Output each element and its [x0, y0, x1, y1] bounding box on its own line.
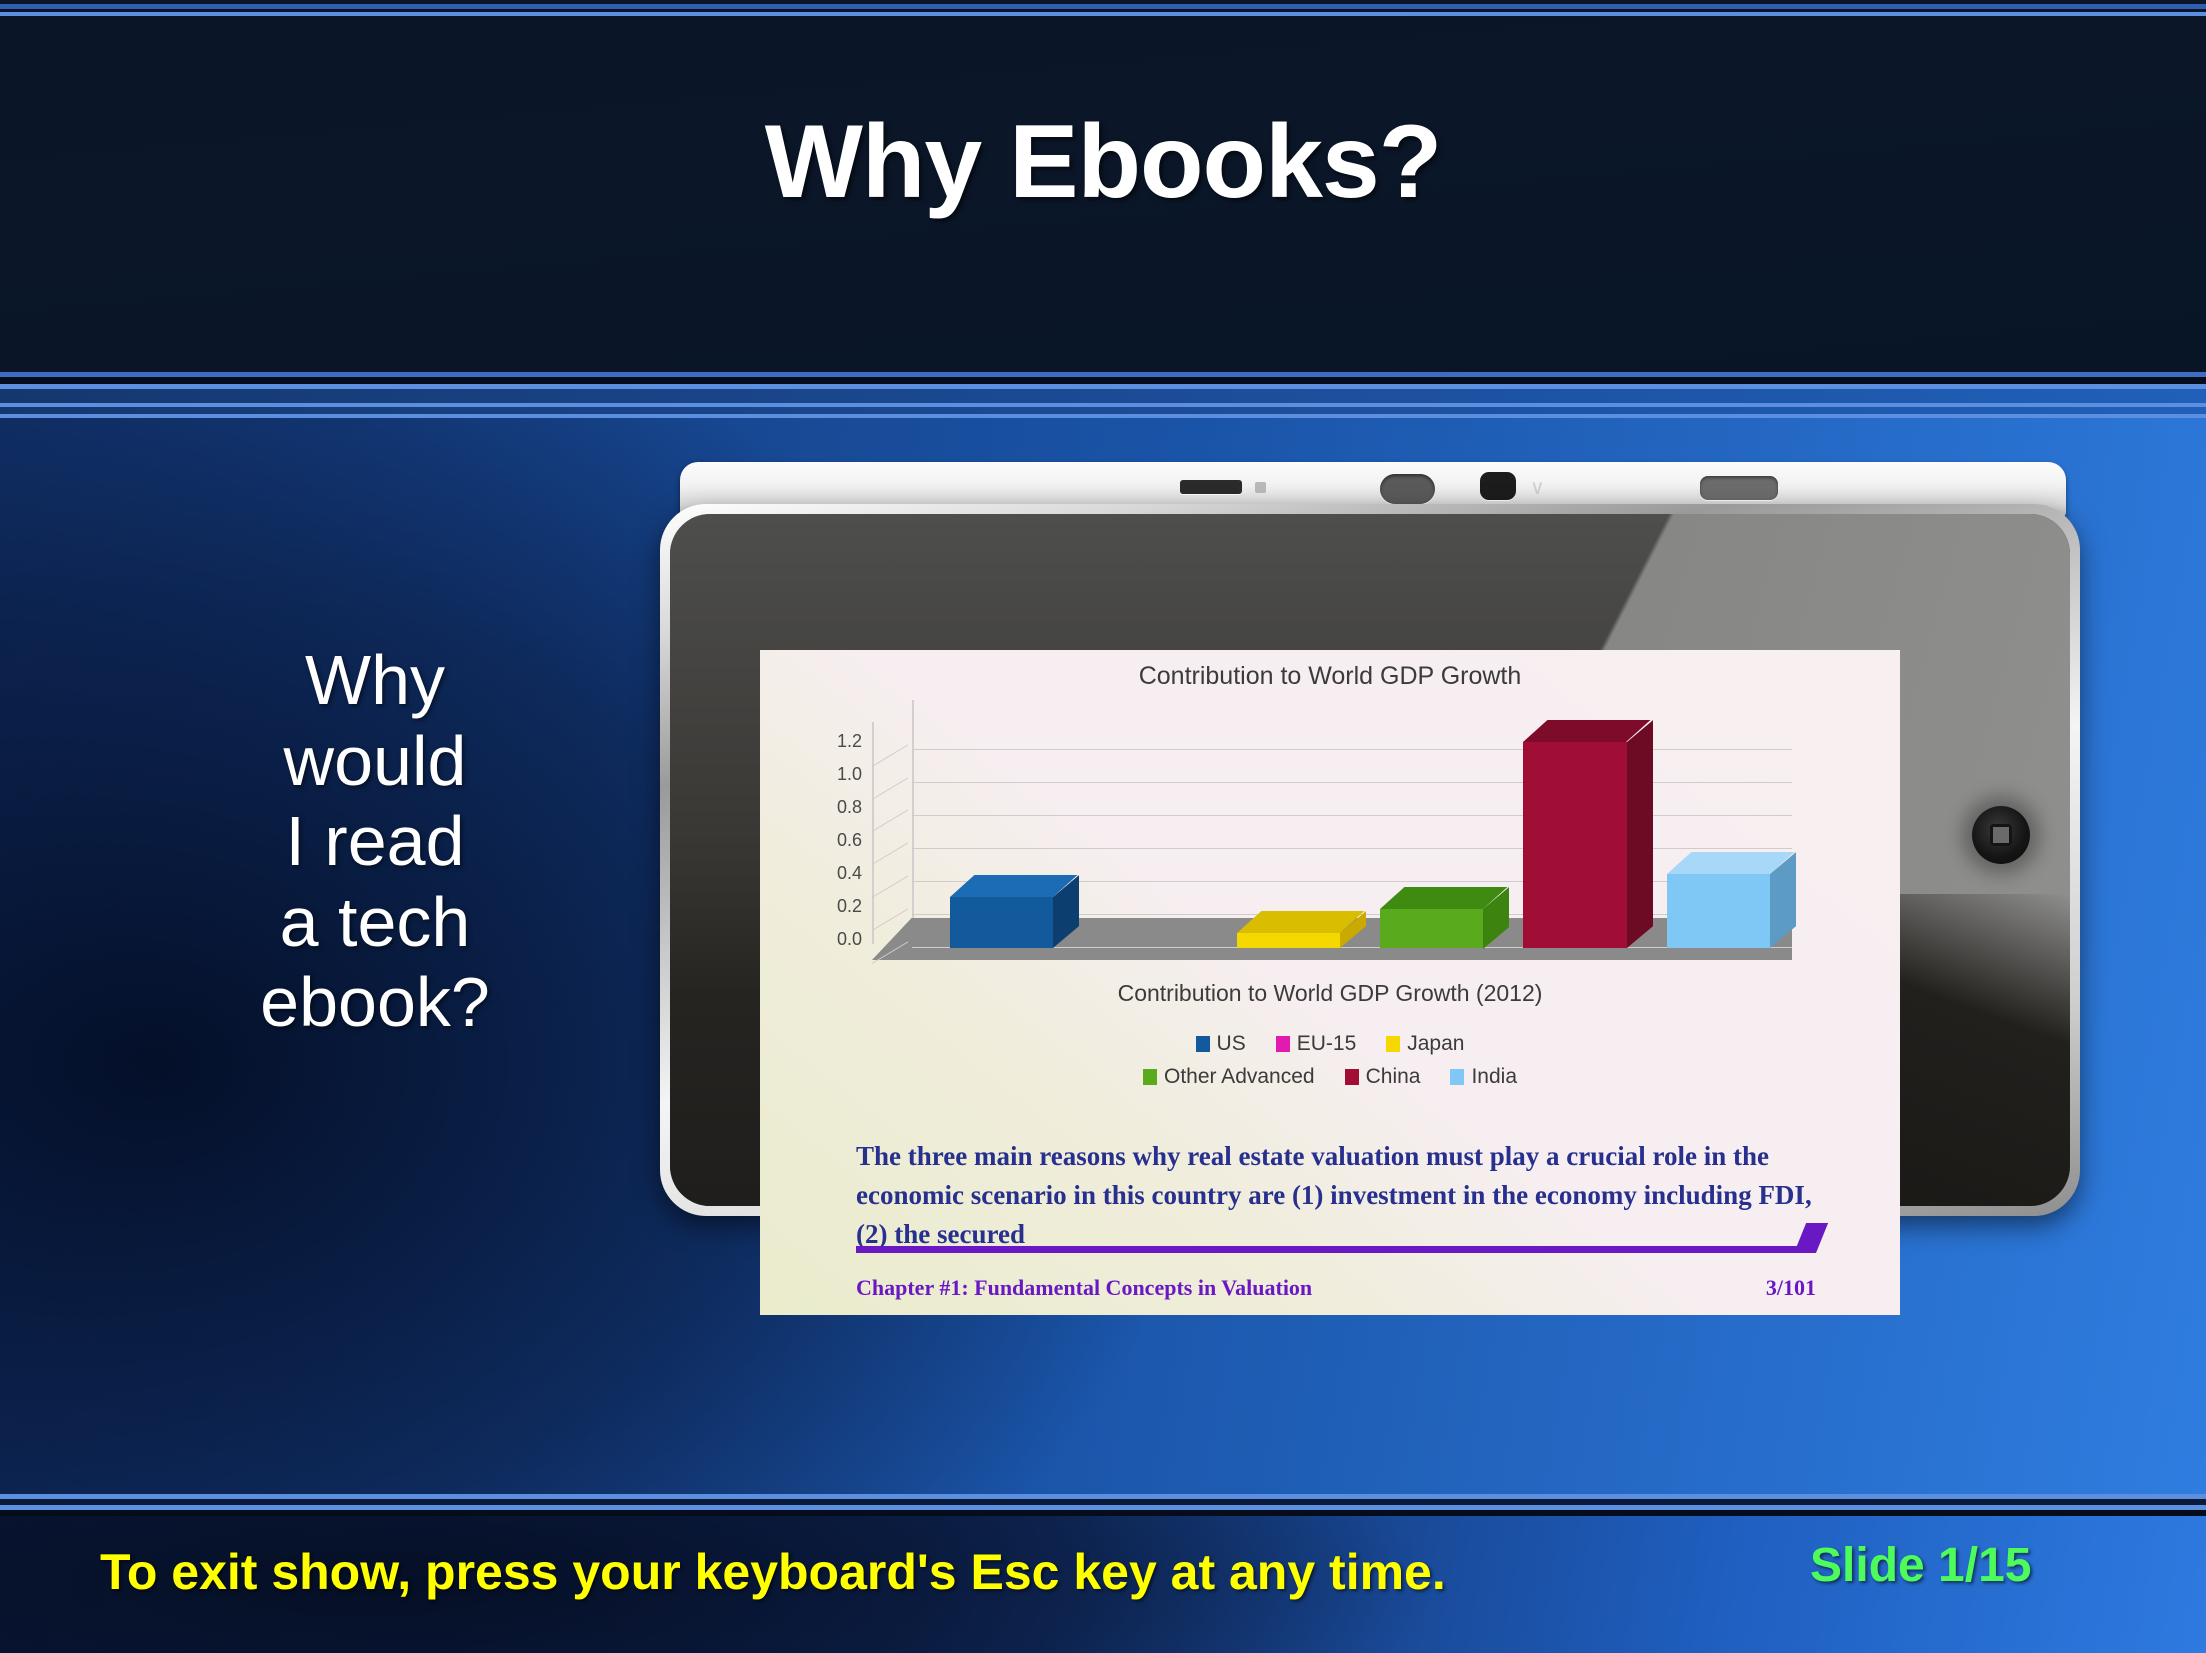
divider-band-2	[0, 407, 2206, 414]
legend-row: Other AdvancedChinaIndia	[760, 1065, 1900, 1089]
body-footer-divider	[0, 1494, 2206, 1516]
ebook-page-number: 3/101	[1766, 1275, 1816, 1301]
bottom-divider-line-2	[0, 1505, 2206, 1510]
ebook-footer-rule	[856, 1245, 1816, 1253]
usb-port-icon	[1180, 480, 1242, 494]
chart-gridline	[912, 815, 1792, 816]
chart-depth-gridline	[872, 843, 909, 865]
chart-bar	[1667, 874, 1770, 948]
chart-depth-gridline	[872, 777, 909, 799]
question-line-4: a tech	[150, 882, 600, 963]
divider-band-1	[0, 389, 2206, 403]
chart-y-tick: 0.0	[837, 930, 862, 948]
legend-item: India	[1450, 1065, 1517, 1089]
chart-bar-front	[1667, 874, 1770, 948]
chart-y-tick: 0.6	[837, 831, 862, 849]
chart-title: Contribution to World GDP Growth	[760, 662, 1900, 691]
chart-depth-axis	[912, 700, 914, 918]
chart-bar	[1523, 742, 1626, 948]
chart-x-axis-label: Contribution to World GDP Growth (2012)	[760, 980, 1900, 1007]
question-line-2: would	[150, 721, 600, 802]
top-rule-inner	[0, 12, 2206, 16]
legend-swatch	[1450, 1069, 1464, 1085]
question-line-1: Why	[150, 640, 600, 721]
chart-y-tick: 0.2	[837, 897, 862, 915]
chart-depth-gridline	[872, 876, 909, 898]
legend-swatch	[1143, 1069, 1157, 1085]
chart-gridline	[912, 848, 1792, 849]
chart-depth-gridline	[872, 810, 909, 832]
question-text: Why would I read a tech ebook?	[150, 640, 600, 1043]
legend-item: US	[1196, 1032, 1246, 1056]
chart-bar-front	[950, 897, 1053, 948]
legend-item: Other Advanced	[1143, 1065, 1315, 1089]
chart-bar-front	[1380, 909, 1483, 949]
ebook-chapter-label: Chapter #1: Fundamental Concepts in Valu…	[856, 1275, 1312, 1301]
slide-counter: Slide 1/15	[1810, 1538, 2031, 1593]
page-title: Why Ebooks?	[0, 108, 2206, 217]
exit-show-hint: To exit show, press your keyboard's Esc …	[100, 1543, 1446, 1601]
legend-label: India	[1471, 1065, 1517, 1089]
legend-item: China	[1345, 1065, 1421, 1089]
chart-bar	[1237, 933, 1340, 948]
chart-y-tick: 0.8	[837, 798, 862, 816]
legend-swatch	[1345, 1069, 1359, 1085]
presentation-slide: Why Ebooks? Why would I read a tech eboo…	[0, 0, 2206, 1653]
question-line-3: I read	[150, 801, 600, 882]
chart-bar	[1380, 909, 1483, 949]
legend-swatch	[1386, 1036, 1400, 1052]
chart-y-tick: 1.2	[837, 732, 862, 750]
legend-item: EU-15	[1276, 1032, 1357, 1056]
legend-label: Japan	[1407, 1032, 1464, 1056]
legend-swatch	[1276, 1036, 1290, 1052]
legend-label: Other Advanced	[1164, 1065, 1315, 1089]
chart-y-axis	[872, 722, 874, 944]
legend-item: Japan	[1386, 1032, 1464, 1056]
round-port-icon	[1380, 474, 1435, 504]
indicator-dot-icon	[1255, 482, 1266, 493]
slide-header: Why Ebooks?	[0, 0, 2206, 374]
chart-bar-side	[1627, 720, 1653, 948]
bar-chart-plot: 0.00.20.40.60.81.01.2	[872, 700, 1792, 960]
legend-row: USEU-15Japan	[760, 1032, 1900, 1056]
ebook-body-text: The three main reasons why real estate v…	[856, 1137, 1816, 1254]
chart-gridline	[912, 749, 1792, 750]
chart-depth-gridline	[872, 744, 909, 766]
footer-rule-bar	[856, 1246, 1798, 1253]
ebook-footer: Chapter #1: Fundamental Concepts in Valu…	[856, 1275, 1816, 1301]
chart-gridline	[912, 782, 1792, 783]
headphone-jack-icon	[1480, 472, 1516, 500]
ebook-page: Contribution to World GDP Growth 0.00.20…	[760, 650, 1900, 1315]
legend-label: US	[1217, 1032, 1246, 1056]
chart-y-tick: 0.4	[837, 864, 862, 882]
header-body-divider	[0, 372, 2206, 420]
legend-label: China	[1366, 1065, 1421, 1089]
top-rule-outer	[0, 4, 2206, 9]
legend-swatch	[1196, 1036, 1210, 1052]
chart-legend: USEU-15Japan Other AdvancedChinaIndia	[760, 1032, 1900, 1098]
chart-y-tick: 1.0	[837, 765, 862, 783]
divider-gap-1	[0, 377, 2206, 384]
chart-bar-front	[1523, 742, 1626, 948]
chevron-down-icon: ∨	[1530, 480, 1556, 496]
question-line-5: ebook?	[150, 962, 600, 1043]
home-button-square-icon	[1990, 824, 2012, 846]
chart-bar-front	[1237, 933, 1340, 948]
chart-bar	[950, 897, 1053, 948]
speaker-grille-icon	[1700, 476, 1778, 500]
legend-label: EU-15	[1297, 1032, 1357, 1056]
